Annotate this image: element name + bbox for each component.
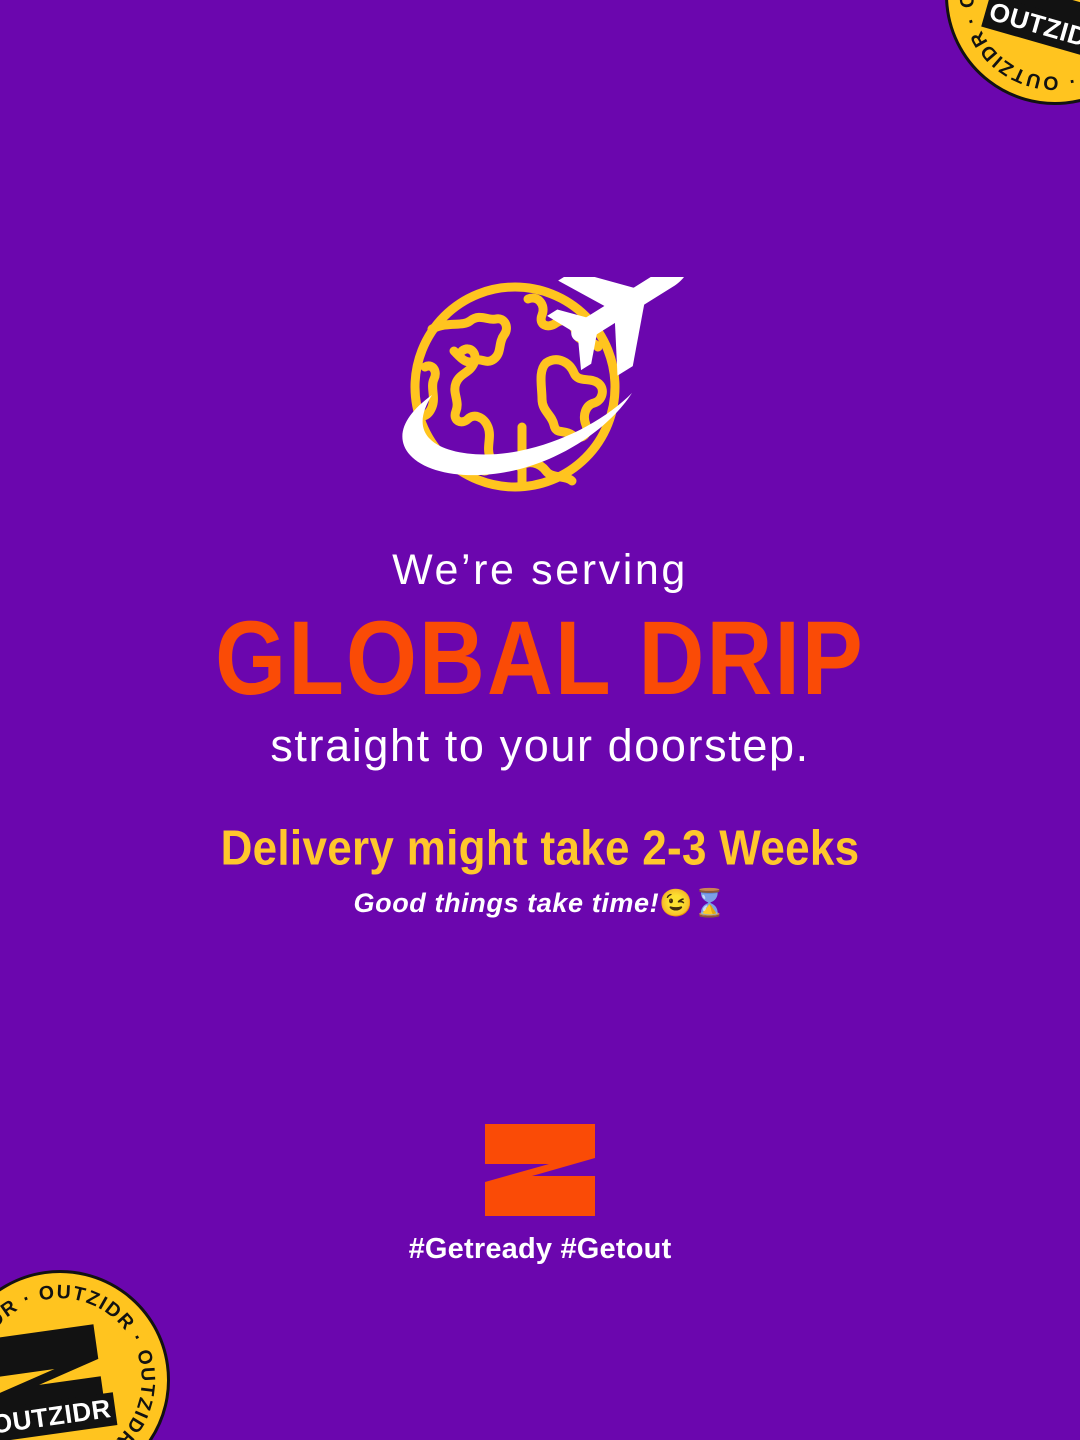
tagline-emoji: 😉⌛	[659, 888, 726, 918]
hero-icon-container	[0, 272, 1080, 512]
badge-bottom-left-graphic: OUTZIDR · OUTZIDR · OUTZIDR · OUTZIDR · …	[0, 1259, 181, 1440]
headline-title: GLOBAL DRIP	[0, 606, 1080, 711]
delivery-estimate: Delivery might take 2-3 Weeks	[0, 822, 1080, 876]
globe-airplane-icon	[370, 277, 710, 507]
delivery-tagline: Good things take time!😉⌛	[0, 889, 1080, 919]
headline-block: We’re serving GLOBAL DRIP straight to yo…	[0, 548, 1080, 769]
footer-block: #Getready #Getout	[0, 1120, 1080, 1266]
headline-doorstep: straight to your doorstep.	[0, 722, 1080, 769]
delivery-block: Delivery might take 2-3 Weeks Good thing…	[0, 822, 1080, 919]
poster-canvas: We’re serving GLOBAL DRIP straight to yo…	[0, 0, 1080, 1440]
outzidr-z-logo	[477, 1120, 603, 1220]
headline-serving: We’re serving	[0, 548, 1080, 593]
badge-top-right-graphic: OUTZIDR · OUTZIDR · OUTZIDR · OUTZIDR · …	[923, 0, 1080, 127]
outzidr-badge-bottom-left: OUTZIDR · OUTZIDR · OUTZIDR · OUTZIDR · …	[0, 1256, 184, 1440]
z-mark	[485, 1124, 595, 1216]
outzidr-badge-top-right: OUTZIDR · OUTZIDR · OUTZIDR · OUTZIDR · …	[919, 0, 1080, 131]
footer-hashtags: #Getready #Getout	[0, 1234, 1080, 1266]
tagline-text: Good things take time!	[354, 888, 660, 918]
